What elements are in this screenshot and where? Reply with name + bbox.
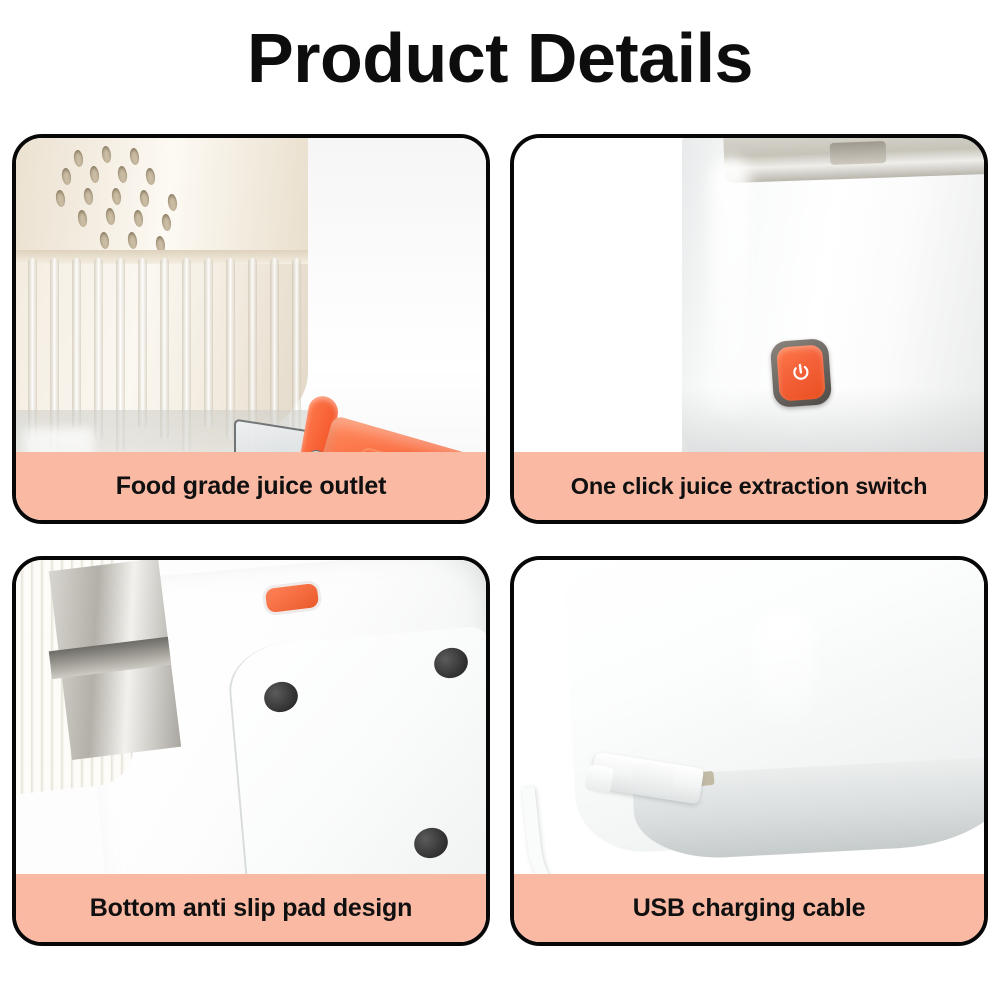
page-title: Product Details (0, 20, 1000, 96)
caption-bar-usb-charging-cable: USB charging cable (514, 874, 984, 942)
power-icon (788, 360, 813, 387)
product-details-page: Product Details Food grade (0, 0, 1000, 1000)
feature-card-usb-charging-cable[interactable]: USB charging cable (510, 556, 988, 946)
caption-label: Bottom anti slip pad design (90, 894, 412, 923)
feature-card-anti-slip-pads[interactable]: Bottom anti slip pad design (12, 556, 490, 946)
caption-bar-food-grade-juice-outlet: Food grade juice outlet (16, 452, 486, 520)
caption-label: USB charging cable (633, 894, 866, 923)
caption-bar-one-click-switch: One click juice extraction switch (514, 452, 984, 520)
usb-plug-grip (630, 761, 676, 797)
base-gloss-highlight (754, 608, 814, 728)
caption-label: Food grade juice outlet (116, 472, 386, 501)
feature-card-one-click-switch[interactable]: One click juice extraction switch (510, 134, 988, 524)
feature-card-food-grade-juice-outlet[interactable]: Food grade juice outlet (12, 134, 490, 524)
body-gloss-highlight (710, 158, 750, 418)
caption-bar-anti-slip-pads: Bottom anti slip pad design (16, 874, 486, 942)
page-title-bar: Product Details (0, 20, 1000, 96)
collar-latch-detail (830, 141, 887, 165)
strainer-perforations (56, 146, 201, 256)
caption-label: One click juice extraction switch (571, 473, 927, 500)
feature-card-grid: Food grade juice outlet One (12, 134, 988, 980)
power-button[interactable] (776, 344, 826, 401)
